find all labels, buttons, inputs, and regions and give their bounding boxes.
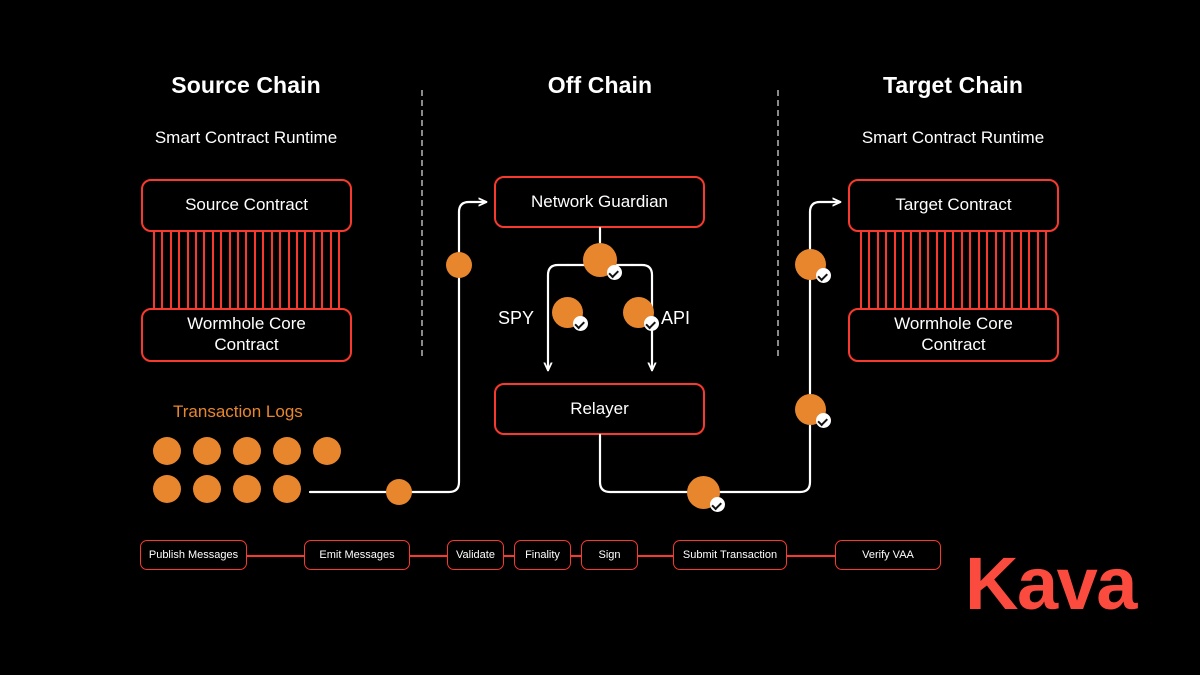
node-guardian-output[interactable] [583, 243, 617, 277]
contract-bar [313, 232, 315, 308]
transaction-log-dot[interactable] [273, 475, 301, 503]
transaction-log-dot[interactable] [193, 475, 221, 503]
contract-bar [978, 232, 980, 308]
target-contract-box[interactable]: Target Contract [848, 179, 1059, 232]
contract-bar [237, 232, 239, 308]
node-source-relay[interactable] [446, 252, 472, 278]
timeline-connector [410, 555, 447, 557]
contract-bar [927, 232, 929, 308]
transaction-log-dot[interactable] [193, 437, 221, 465]
relayer-box[interactable]: Relayer [494, 383, 705, 435]
contract-bar [288, 232, 290, 308]
kava-logo: Kava [965, 547, 1136, 621]
contract-bar [860, 232, 862, 308]
api-label: API [661, 308, 690, 329]
contract-bar [1045, 232, 1047, 308]
node-api[interactable] [623, 297, 654, 328]
column-title-target: Target Chain [803, 72, 1103, 99]
contract-bar [969, 232, 971, 308]
contract-bar [944, 232, 946, 308]
contract-bar [153, 232, 155, 308]
source-core-line1: Wormhole Core [187, 314, 306, 335]
contract-bar [910, 232, 912, 308]
column-title-source: Source Chain [96, 72, 396, 99]
column-subtitle-target: Smart Contract Runtime [803, 128, 1103, 148]
contract-bar [161, 232, 163, 308]
target-wormhole-core-box[interactable]: Wormhole Core Contract [848, 308, 1059, 362]
node-relayer-output[interactable] [687, 476, 720, 509]
timeline-step[interactable]: Sign [581, 540, 638, 570]
contract-bar [321, 232, 323, 308]
contract-bar [1003, 232, 1005, 308]
contract-bar [262, 232, 264, 308]
contract-bar [229, 232, 231, 308]
source-wormhole-core-box[interactable]: Wormhole Core Contract [141, 308, 352, 362]
contract-bar [902, 232, 904, 308]
timeline-connector [247, 555, 304, 557]
contract-bar [212, 232, 214, 308]
timeline-step[interactable]: Publish Messages [140, 540, 247, 570]
contract-bar [952, 232, 954, 308]
contract-bar [279, 232, 281, 308]
node-spy[interactable] [552, 297, 583, 328]
contract-bar [936, 232, 938, 308]
contract-bar [885, 232, 887, 308]
contract-bar [220, 232, 222, 308]
target-core-line2: Contract [921, 335, 985, 356]
source-core-line2: Contract [214, 335, 278, 356]
contract-bar [296, 232, 298, 308]
timeline-connector [571, 555, 581, 557]
timeline-connector [787, 555, 835, 557]
contract-bar [1011, 232, 1013, 308]
spy-label: SPY [498, 308, 534, 329]
timeline-connector [504, 555, 514, 557]
transaction-log-dot[interactable] [313, 437, 341, 465]
contract-bar [245, 232, 247, 308]
divider-offchain-target [777, 90, 779, 356]
timeline-step[interactable]: Submit Transaction [673, 540, 787, 570]
transaction-log-dot[interactable] [233, 437, 261, 465]
contract-bar [877, 232, 879, 308]
diagram-canvas: Source Chain Smart Contract Runtime Off … [0, 0, 1200, 675]
target-bars [860, 232, 1047, 308]
transaction-log-dot[interactable] [153, 475, 181, 503]
contract-bar [254, 232, 256, 308]
timeline-step[interactable]: Finality [514, 540, 571, 570]
column-subtitle-source: Smart Contract Runtime [96, 128, 396, 148]
node-target-submit[interactable] [795, 394, 826, 425]
timeline-step[interactable]: Validate [447, 540, 504, 570]
contract-bar [338, 232, 340, 308]
timeline-step[interactable]: Verify VAA [835, 540, 941, 570]
contract-bar [187, 232, 189, 308]
contract-bar [203, 232, 205, 308]
contract-bar [271, 232, 273, 308]
contract-bar [195, 232, 197, 308]
column-title-offchain: Off Chain [450, 72, 750, 99]
transaction-log-dot[interactable] [233, 475, 261, 503]
contract-bar [330, 232, 332, 308]
source-contract-box[interactable]: Source Contract [141, 179, 352, 232]
contract-bar [1028, 232, 1030, 308]
node-txlog-relay[interactable] [386, 479, 412, 505]
contract-bar [170, 232, 172, 308]
contract-bar [1020, 232, 1022, 308]
timeline-step[interactable]: Emit Messages [304, 540, 410, 570]
node-target-verify[interactable] [795, 249, 826, 280]
network-guardian-box[interactable]: Network Guardian [494, 176, 705, 228]
contract-bar [868, 232, 870, 308]
contract-bar [304, 232, 306, 308]
contract-bar [995, 232, 997, 308]
contract-bar [178, 232, 180, 308]
transaction-logs-label: Transaction Logs [173, 402, 303, 422]
transaction-log-dot[interactable] [273, 437, 301, 465]
contract-bar [986, 232, 988, 308]
transaction-log-dot[interactable] [153, 437, 181, 465]
divider-source-offchain [421, 90, 423, 356]
target-core-line1: Wormhole Core [894, 314, 1013, 335]
source-bars [153, 232, 340, 308]
timeline-connector [638, 555, 673, 557]
contract-bar [961, 232, 963, 308]
contract-bar [919, 232, 921, 308]
contract-bar [894, 232, 896, 308]
contract-bar [1037, 232, 1039, 308]
